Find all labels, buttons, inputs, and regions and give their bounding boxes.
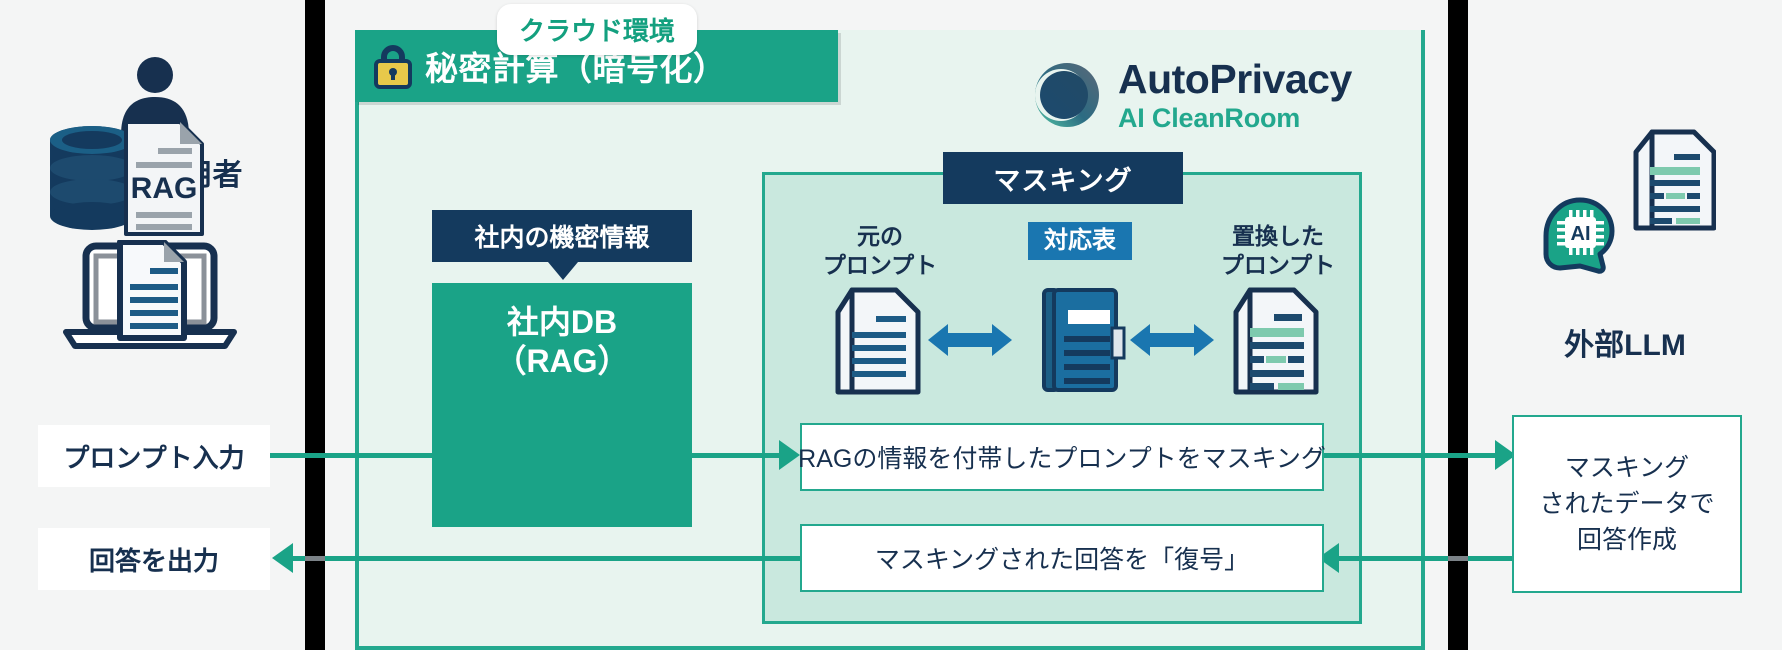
- document-masked-icon: [1230, 286, 1322, 396]
- connector-grey-segment-left: [305, 556, 325, 561]
- connector-flowbottom-to-answer: [286, 556, 802, 561]
- masking-column-mapping: 対応表: [1000, 222, 1160, 260]
- external-llm-label: 外部LLM: [1468, 320, 1782, 364]
- connector-db-to-flowtop: [692, 453, 782, 458]
- llm-box-line2: されたデータで: [1539, 490, 1714, 518]
- document-masked-icon: [1632, 128, 1716, 232]
- internal-db-box: 社内DB （RAG）: [432, 283, 692, 527]
- laptop-document-icon: [62, 240, 238, 352]
- diagram-canvas: 生成AI利用者 プロンプト入力 回答を出力 秘密計算（暗号化） クラウド環境: [0, 0, 1782, 650]
- brand-logo: AutoPrivacy AI CleanRoom: [1030, 58, 1352, 132]
- brand-secondary: AI CleanRoom: [1118, 105, 1352, 132]
- masking-column-replaced: 置換した プロンプト: [1188, 222, 1368, 280]
- llm-box-line1: マスキング: [1565, 454, 1689, 482]
- arrowhead-flowbottom-to-answer: [272, 543, 293, 573]
- internal-db-title: 社内DB （RAG）: [432, 303, 692, 381]
- arrowhead-db-to-flowtop: [779, 440, 800, 470]
- rag-doc-label: RAG: [131, 172, 198, 205]
- ai-chip-label: AI: [1571, 223, 1591, 245]
- ai-brain-chip-icon: AI: [1540, 196, 1620, 276]
- autoprivacy-logo-mark-icon: [1030, 58, 1104, 132]
- double-arrow-icon: [926, 320, 1014, 360]
- brand-primary: AutoPrivacy: [1118, 59, 1352, 100]
- mapping-table-book-icon: [1038, 284, 1130, 396]
- rag-document-icon: RAG: [126, 122, 202, 234]
- flow-box-mask-prompt: RAGの情報を付帯したプロンプトをマスキング: [800, 423, 1324, 491]
- cloud-environment-tag: クラウド環境: [497, 4, 697, 55]
- replaced-prompt-caption: 置換した プロンプト: [1188, 222, 1368, 280]
- connector-llm-to-flowbottom: [1330, 556, 1514, 561]
- boundary-bar-right: [1448, 0, 1468, 650]
- connector-flowtop-to-llm: [1324, 453, 1504, 458]
- masking-title: マスキング: [943, 152, 1183, 204]
- external-llm-box: マスキング されたデータで 回答作成: [1512, 415, 1742, 593]
- database-rag-document-icon: RAG: [30, 118, 230, 238]
- lock-icon: [373, 43, 413, 89]
- boundary-bar-left: [305, 0, 325, 650]
- prompt-input-label: プロンプト入力: [38, 425, 270, 487]
- document-plain-icon: [832, 286, 924, 396]
- callout-tip: [548, 262, 578, 280]
- connector-grey-segment-right: [1448, 556, 1468, 561]
- mapping-table-chip: 対応表: [1028, 222, 1132, 260]
- connector-prompt-to-db: [270, 453, 455, 458]
- original-prompt-caption: 元の プロンプト: [790, 222, 970, 280]
- flow-box-decrypt-answer: マスキングされた回答を「復号」: [800, 524, 1324, 592]
- database-cylinder-icon: [50, 126, 134, 230]
- internal-confidential-callout: 社内の機密情報: [432, 210, 692, 262]
- answer-output-label: 回答を出力: [38, 528, 270, 590]
- masking-column-original: 元の プロンプト: [790, 222, 970, 280]
- llm-box-line3: 回答作成: [1577, 526, 1677, 554]
- double-arrow-icon: [1128, 320, 1216, 360]
